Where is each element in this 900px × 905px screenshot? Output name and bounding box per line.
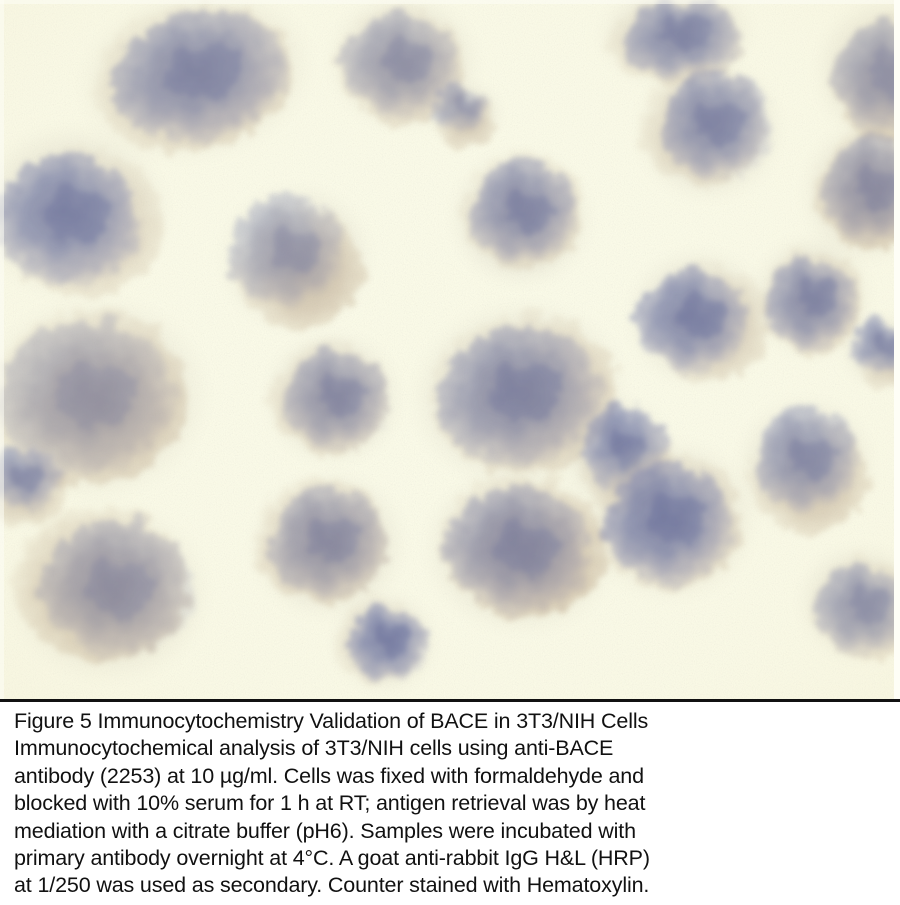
caption-line-3: antibody (2253) at 10 µg/ml. Cells was f… — [14, 763, 890, 790]
caption-line-title: Figure 5 Immunocytochemistry Validation … — [14, 708, 890, 735]
caption-line-7: at 1/250 was used as secondary. Counter … — [14, 872, 890, 899]
caption-line-4: blocked with 10% serum for 1 h at RT; an… — [14, 790, 890, 817]
figure-caption: Figure 5 Immunocytochemistry Validation … — [0, 702, 900, 905]
caption-line-5: mediation with a citrate buffer (pH6). S… — [14, 818, 890, 845]
illumination-vignette — [0, 0, 900, 702]
micrograph-image — [0, 0, 900, 702]
figure-container: Figure 5 Immunocytochemistry Validation … — [0, 0, 900, 905]
micrograph-panel — [0, 0, 900, 702]
caption-line-6: primary antibody overnight at 4°C. A goa… — [14, 845, 890, 872]
caption-line-2: Immunocytochemical analysis of 3T3/NIH c… — [14, 735, 890, 762]
